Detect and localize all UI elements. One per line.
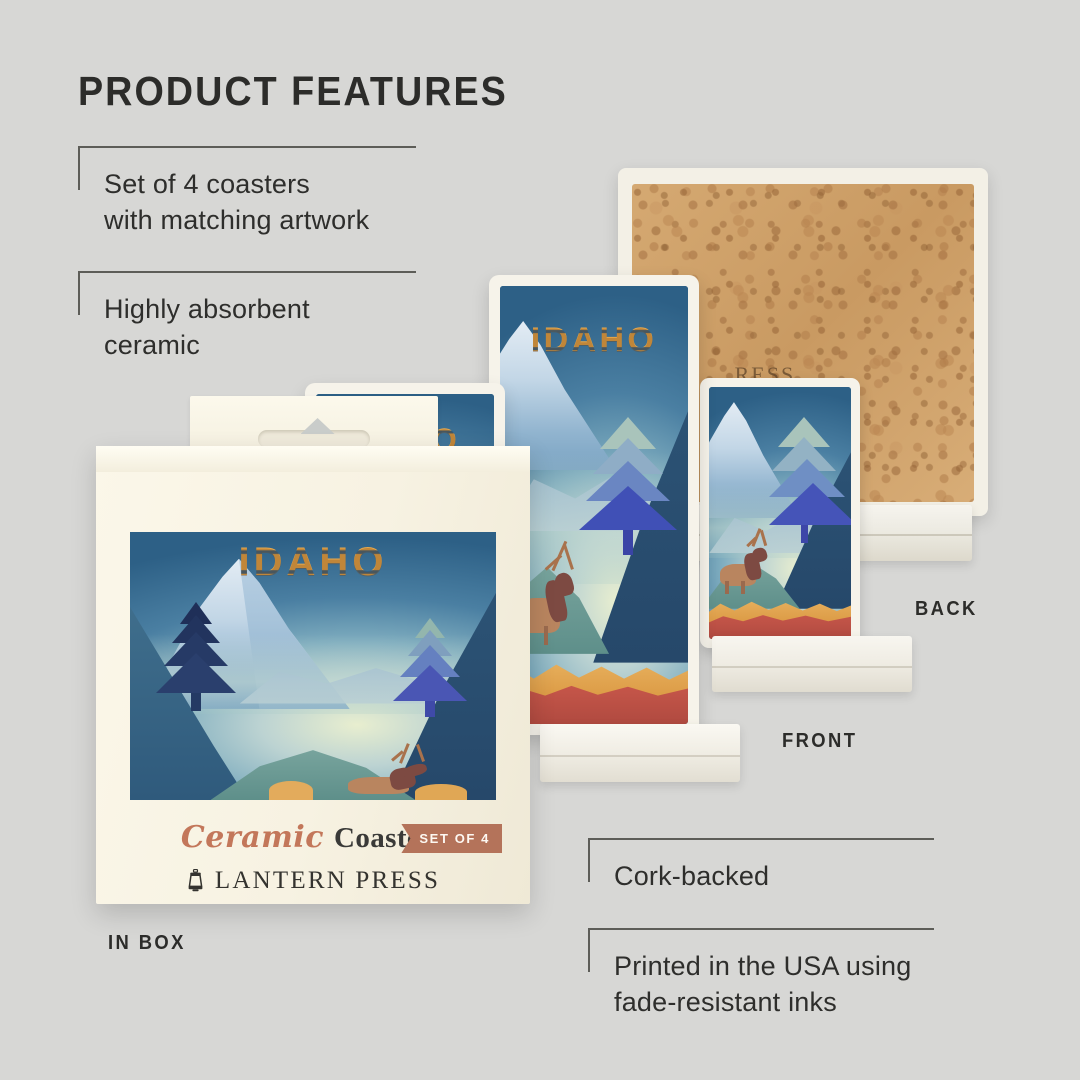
- coaster-artwork-front: [709, 387, 851, 639]
- feature-rule-vertical: [588, 838, 590, 882]
- publisher-line: LANTERN PRESS: [96, 867, 530, 895]
- display-stand-front: [712, 636, 912, 692]
- feature-rule-horizontal: [78, 146, 416, 148]
- caption-front: FRONT: [782, 730, 857, 753]
- artwork-title: IDAHO: [500, 321, 688, 360]
- feature-text: Set of 4 coasters with matching artwork: [104, 166, 369, 238]
- feature-rule-horizontal: [588, 838, 934, 840]
- feature-rule-horizontal: [588, 928, 934, 930]
- feature-rule-horizontal: [78, 271, 416, 273]
- artwork-pine-left: [145, 602, 247, 800]
- coaster-front: [700, 378, 860, 648]
- coaster-artwork-box: IDAHO: [130, 532, 496, 800]
- artwork-shrub: [415, 784, 466, 800]
- box-window-artwork: IDAHO: [130, 532, 496, 800]
- display-stand-middle: [540, 724, 740, 782]
- artwork-foliage: [709, 579, 851, 639]
- artwork-shrub: [269, 781, 313, 800]
- product-box: IDAHO: [96, 446, 530, 904]
- brand-script-word: Ceramic: [181, 820, 324, 855]
- lantern-icon: [186, 869, 205, 893]
- feature-text: Printed in the USA using fade-resistant …: [614, 948, 911, 1020]
- page-title: PRODUCT FEATURES: [78, 68, 508, 115]
- product-feature-sheet: PRODUCT FEATURES Set of 4 coasters with …: [0, 0, 1080, 1080]
- publisher-name: LANTERN PRESS: [215, 867, 440, 895]
- box-top-edge: [96, 446, 530, 472]
- artwork-title: IDAHO: [130, 540, 496, 585]
- feature-text: Cork-backed: [614, 858, 769, 894]
- feature-rule-vertical: [78, 271, 80, 315]
- set-of-4-ribbon: SET OF 4: [401, 824, 502, 853]
- box-brand-block: CeramicCoasters SET OF 4 LANTERN PRESS: [96, 820, 530, 895]
- feature-rule-vertical: [588, 928, 590, 972]
- caption-in-box: IN BOX: [108, 932, 186, 955]
- caption-back: BACK: [915, 598, 978, 621]
- feature-rule-vertical: [78, 146, 80, 190]
- feature-text: Highly absorbent ceramic: [104, 291, 310, 363]
